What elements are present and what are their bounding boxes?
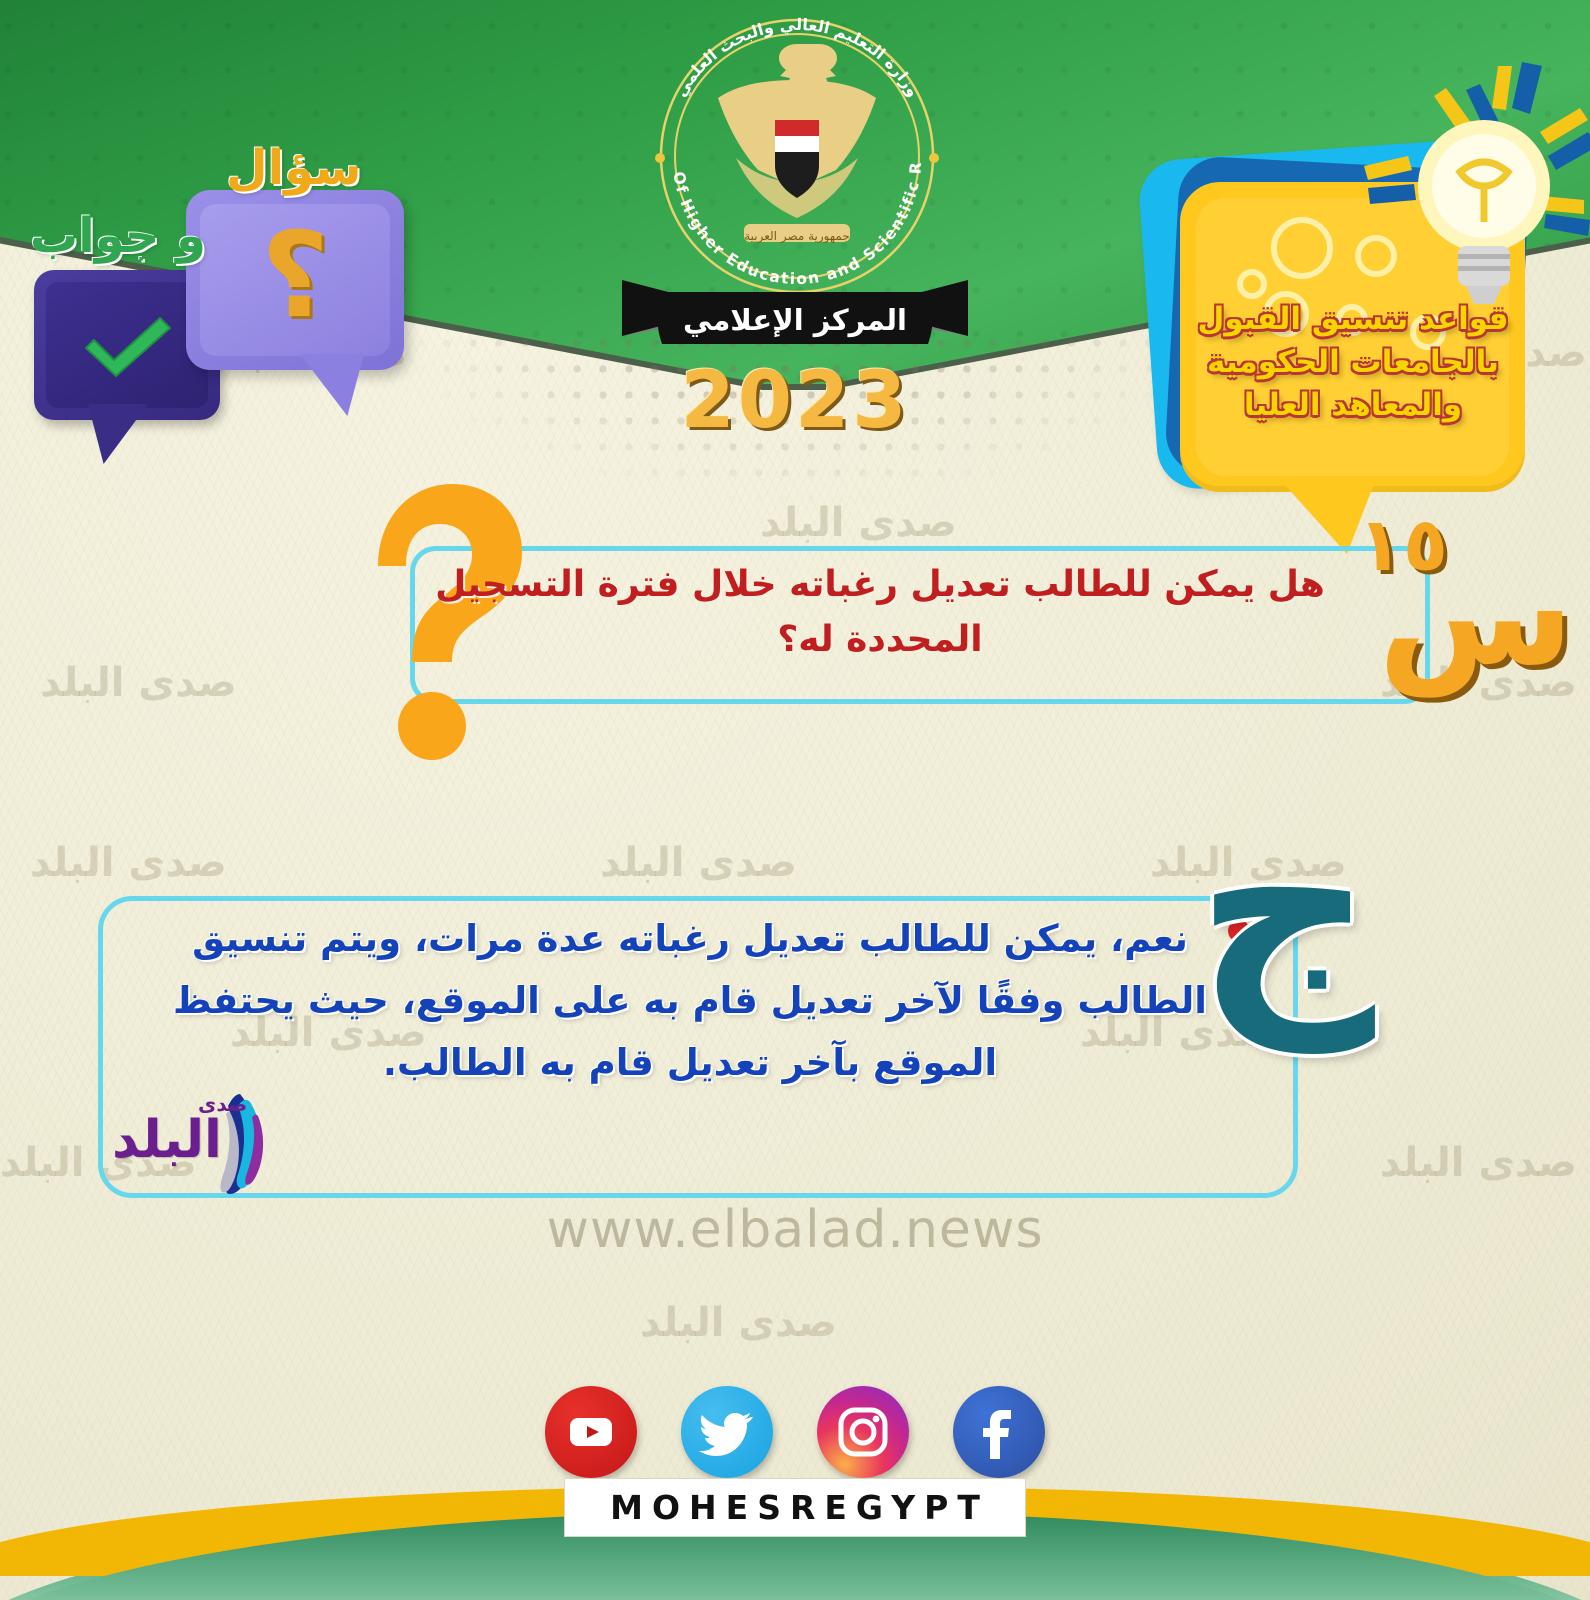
question-text: هل يمكن للطالب تعديل رغباته خلال فترة ال… bbox=[430, 558, 1330, 667]
question-letter: س bbox=[1378, 544, 1574, 686]
background-watermark: صدى البلد bbox=[760, 500, 957, 546]
ministry-emblem: جمهورية مصر العربية وزارة التعليم العالي… bbox=[632, 8, 962, 308]
youtube-icon[interactable] bbox=[545, 1386, 637, 1478]
infographic-canvas: صدى البلد صدى البلد صدى البلد صدى البلد … bbox=[0, 0, 1590, 1600]
check-icon bbox=[80, 316, 176, 378]
social-handle: MOHESREGYPT bbox=[564, 1478, 1026, 1537]
twitter-icon[interactable] bbox=[681, 1386, 773, 1478]
background-watermark: صدى البلد bbox=[600, 840, 797, 886]
topic-line-1: قواعد تنسيق القبول bbox=[1188, 298, 1518, 341]
answer-letter: ج bbox=[1195, 782, 1375, 1032]
elbalad-logo: صدى البلد bbox=[112, 1086, 282, 1196]
background-watermark: صدى البلد bbox=[40, 660, 237, 706]
svg-text:جمهورية مصر العربية: جمهورية مصر العربية bbox=[744, 229, 850, 244]
sual-label: سؤال bbox=[226, 140, 361, 196]
question-mark-icon: ؟ bbox=[186, 206, 404, 344]
background-watermark: صدى البلد bbox=[30, 840, 227, 886]
instagram-icon[interactable] bbox=[817, 1386, 909, 1478]
lightbulb-icon bbox=[1348, 60, 1590, 310]
media-center-label: المركز الإعلامي bbox=[620, 292, 970, 348]
media-center-ribbon: المركز الإعلامي bbox=[620, 278, 970, 352]
year-label: 2023 bbox=[620, 356, 970, 446]
topic-card-text: قواعد تنسيق القبول بالجامعات الحكومية وا… bbox=[1188, 298, 1518, 426]
gawab-label: و جواب bbox=[30, 208, 206, 264]
answer-text-wrap: نعم، يمكن للطالب تعديل رغباته عدة مرات، … bbox=[130, 908, 1250, 1094]
question-marker: ١٥ س bbox=[1330, 500, 1580, 700]
social-links bbox=[0, 1384, 1590, 1480]
answer-text: نعم، يمكن للطالب تعديل رغباته عدة مرات، … bbox=[173, 917, 1207, 1084]
question-bubble-graphic: ؟ bbox=[186, 190, 404, 370]
social-handle-wrap: MOHESREGYPT bbox=[0, 1478, 1590, 1537]
url-watermark: www.elbalad.news bbox=[0, 1200, 1590, 1260]
background-watermark: صدى البلد bbox=[640, 1300, 837, 1346]
topic-line-3: والمعاهد العليا bbox=[1188, 384, 1518, 427]
background-watermark: صدى البلد bbox=[1380, 1140, 1577, 1186]
topic-line-2: بالجامعات الحكومية bbox=[1188, 341, 1518, 384]
facebook-icon[interactable] bbox=[953, 1386, 1045, 1478]
elbalad-name: البلد bbox=[112, 1110, 222, 1170]
